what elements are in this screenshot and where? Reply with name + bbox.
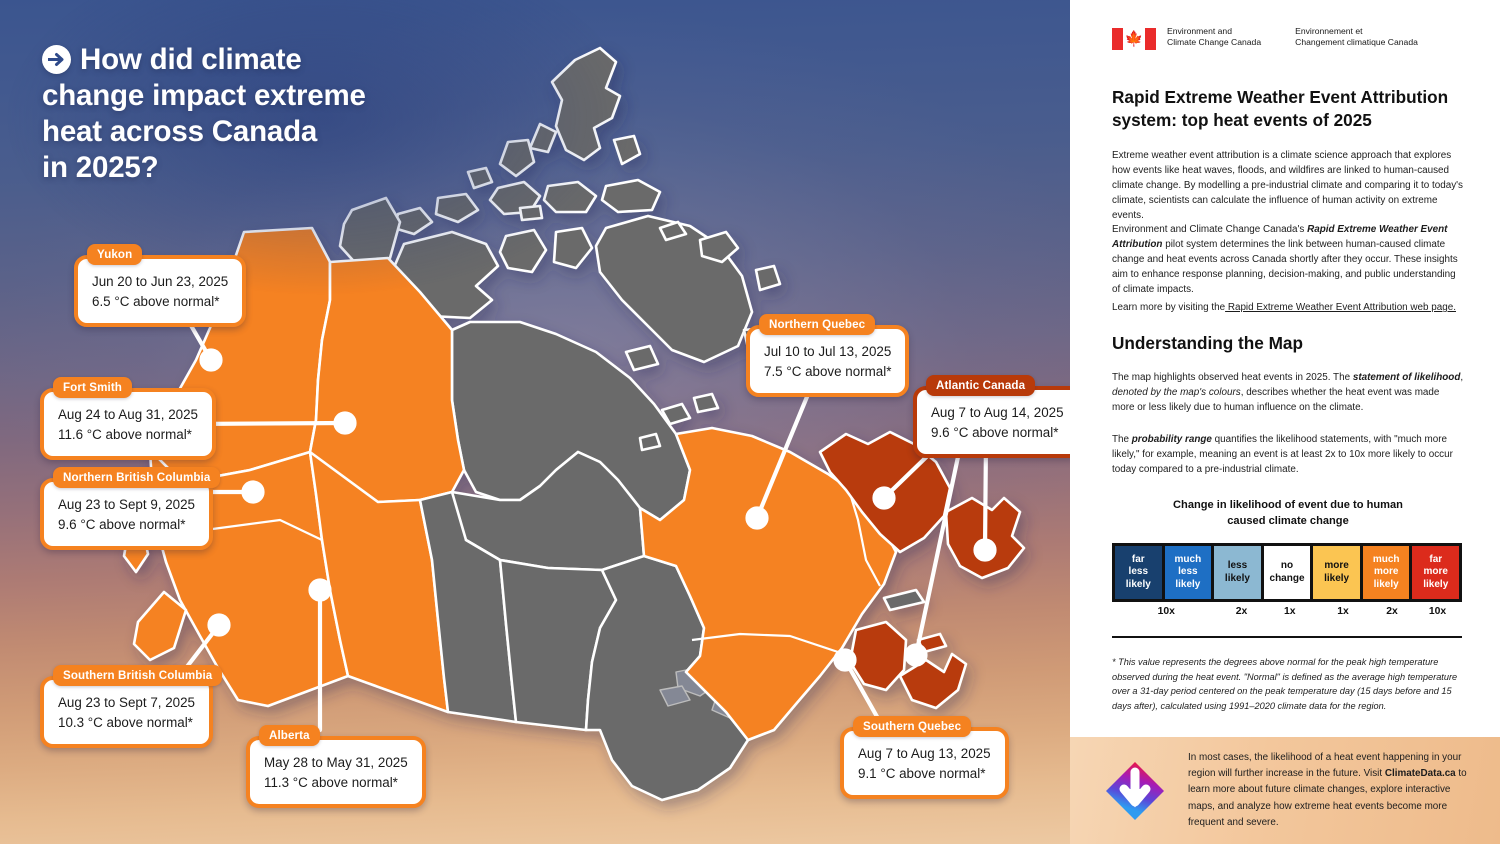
map-callout-southern-quebec[interactable]: Southern QuebecAug 7 to Aug 13, 20259.1 … — [840, 727, 1009, 799]
callout-temperature-anomaly: 9.6 °C above normal* — [931, 423, 1064, 443]
callout-date-range: Aug 23 to Sept 9, 2025 — [58, 495, 195, 515]
legend-swatch-label-line: less — [1129, 566, 1148, 578]
panel-heading-attribution: Rapid Extreme Weather Event Attribution … — [1112, 86, 1464, 131]
title-line-3: heat across Canada — [42, 115, 317, 148]
legend-swatch-label-line: far — [1132, 554, 1145, 566]
legend-swatch-far-less-likely: farlesslikely — [1115, 546, 1162, 599]
emphasis-statement-of-likelihood: statement of likelihood — [1353, 372, 1461, 383]
callout-temperature-anomaly: 7.5 °C above normal* — [764, 362, 891, 382]
panel-paragraph-5: The probability range quantifies the lik… — [1112, 432, 1464, 477]
rewea-web-page-link[interactable]: Rapid Extreme Weather Event Attribution … — [1225, 302, 1456, 313]
legend-swatch-label-line: likely — [1225, 573, 1250, 585]
legend-swatch-label-line: change — [1270, 573, 1305, 585]
legend-swatch-label-line: likely — [1175, 579, 1200, 591]
legend-tick-labels: 10x2x1x1x2x10x — [1112, 606, 1462, 622]
logo-text-english: Environment andClimate Change Canada — [1167, 26, 1261, 49]
info-panel: 🍁 Environment andClimate Change Canada E… — [1070, 0, 1500, 844]
legend-divider — [1112, 636, 1462, 638]
callout-date-range: Aug 24 to Aug 31, 2025 — [58, 405, 198, 425]
callout-date-range: Aug 7 to Aug 14, 2025 — [931, 403, 1064, 423]
legend-title: Change in likelihood of event due to hum… — [1112, 498, 1464, 529]
map-region-anticosti — [884, 590, 924, 610]
map-callout-fort-smith[interactable]: Fort SmithAug 24 to Aug 31, 202511.6 °C … — [40, 388, 216, 460]
legend-swatch-label-line: more — [1374, 566, 1398, 578]
map-region-newfoundland — [946, 498, 1024, 578]
map-callout-northern-quebec[interactable]: Northern QuebecJul 10 to Jul 13, 20257.5… — [746, 325, 909, 397]
map-region-nova-scotia — [900, 654, 966, 708]
map-region-vancouver-island — [134, 592, 186, 660]
legend-swatch-label-line: much — [1373, 554, 1400, 566]
legend-swatch-no-change: nochange — [1264, 546, 1311, 599]
panel-paragraph-1: Extreme weather event attribution is a c… — [1112, 148, 1464, 223]
title-line-2: change impact extreme — [42, 79, 366, 112]
callout-temperature-anomaly: 6.5 °C above normal* — [92, 292, 228, 312]
callout-temperature-anomaly: 9.1 °C above normal* — [858, 764, 991, 784]
callout-region-name: Alberta — [259, 725, 320, 746]
legend-swatch-label-line: likely — [1126, 579, 1151, 591]
callout-temperature-anomaly: 11.3 °C above normal* — [264, 773, 408, 793]
callout-region-name: Fort Smith — [53, 377, 132, 398]
promo-text: In most cases, the likelihood of a heat … — [1188, 750, 1478, 830]
arrow-right-circle-icon — [42, 45, 71, 74]
callout-region-name: Southern Quebec — [853, 716, 971, 737]
legend-swatch-less-likely: lesslikely — [1214, 546, 1261, 599]
emphasis-probability-range: probability range — [1132, 434, 1212, 445]
legend-swatch-label-line: much — [1175, 554, 1202, 566]
legend-swatch-far-more-likely: farmorelikely — [1412, 546, 1459, 599]
map-callout-yukon[interactable]: YukonJun 20 to Jun 23, 20256.5 °C above … — [74, 255, 246, 327]
callout-date-range: May 28 to May 31, 2025 — [264, 753, 408, 773]
legend-swatch-more-likely: morelikely — [1313, 546, 1360, 599]
callout-date-range: Jun 20 to Jun 23, 2025 — [92, 272, 228, 292]
map-callout-northern-british-columbia[interactable]: Northern British ColumbiaAug 23 to Sept … — [40, 478, 213, 550]
map-panel: How did climate change impact extreme he… — [0, 0, 1070, 844]
callout-date-range: Aug 7 to Aug 13, 2025 — [858, 744, 991, 764]
climatedata-brand: ClimateData.ca — [1385, 768, 1456, 779]
callout-temperature-anomaly: 11.6 °C above normal* — [58, 425, 198, 445]
legend-tick-2: 1x — [1284, 606, 1296, 617]
legend-swatch-label-line: far — [1429, 554, 1442, 566]
canada-flag-icon: 🍁 — [1112, 28, 1156, 50]
page-title: How did climate change impact extreme he… — [42, 40, 462, 186]
legend-tick-4: 2x — [1386, 606, 1398, 617]
legend-swatch-much-less-likely: muchlesslikely — [1165, 546, 1212, 599]
likelihood-legend: farlesslikelymuchlesslikelylesslikelynoc… — [1112, 543, 1462, 602]
callout-region-name: Northern British Columbia — [53, 467, 220, 488]
title-line-4: in 2025? — [42, 151, 158, 184]
callout-date-range: Aug 23 to Sept 7, 2025 — [58, 693, 195, 713]
legend-tick-3: 1x — [1337, 606, 1349, 617]
map-callout-southern-british-columbia[interactable]: Southern British ColumbiaAug 23 to Sept … — [40, 676, 213, 748]
legend-swatch-much-more-likely: muchmorelikely — [1363, 546, 1410, 599]
map-callout-alberta[interactable]: AlbertaMay 28 to May 31, 202511.3 °C abo… — [246, 736, 426, 808]
legend-tick-0: 10x — [1158, 606, 1175, 617]
legend-tick-1: 2x — [1236, 606, 1248, 617]
callout-temperature-anomaly: 9.6 °C above normal* — [58, 515, 195, 535]
callout-region-name: Atlantic Canada — [926, 375, 1035, 396]
map-callout-atlantic-canada[interactable]: Atlantic CanadaAug 7 to Aug 14, 20259.6 … — [913, 386, 1070, 458]
map-region-prince-edward-island — [918, 634, 946, 652]
callout-date-range: Jul 10 to Jul 13, 2025 — [764, 342, 891, 362]
legend-swatch-label-line: likely — [1423, 579, 1448, 591]
callout-temperature-anomaly: 10.3 °C above normal* — [58, 713, 195, 733]
title-line-1: How did climate — [80, 43, 302, 76]
government-of-canada-logo: 🍁 Environment andClimate Change Canada E… — [1112, 26, 1418, 50]
legend-swatch-label-line: no — [1281, 560, 1293, 572]
panel-paragraph-3: Learn more by visiting the Rapid Extreme… — [1112, 300, 1464, 315]
logo-text-french: Environnement etChangement climatique Ca… — [1295, 26, 1418, 49]
legend-swatch-label-line: likely — [1374, 579, 1399, 591]
map-region-new-brunswick — [850, 622, 906, 690]
callout-region-name: Yukon — [87, 244, 142, 265]
legend-swatch-label-line: more — [1324, 560, 1348, 572]
climatedata-diamond-icon — [1102, 758, 1168, 824]
legend-swatch-label-line: less — [1178, 566, 1197, 578]
legend-swatch-label-line: likely — [1324, 573, 1349, 585]
panel-paragraph-4: The map highlights observed heat events … — [1112, 370, 1464, 415]
callout-region-name: Northern Quebec — [759, 314, 875, 335]
emphasis-map-colours: denoted by the map's colours — [1112, 387, 1241, 398]
callout-region-name: Southern British Columbia — [53, 665, 222, 686]
panel-heading-understanding-map: Understanding the Map — [1112, 332, 1464, 355]
panel-paragraph-2: Environment and Climate Change Canada's … — [1112, 222, 1464, 297]
legend-swatch-label-line: more — [1424, 566, 1448, 578]
legend-swatch-label-line: less — [1228, 560, 1247, 572]
footnote-normal-definition: * This value represents the degrees abov… — [1112, 655, 1464, 714]
climatedata-promo-banner: In most cases, the likelihood of a heat … — [1070, 737, 1500, 844]
legend-tick-5: 10x — [1429, 606, 1446, 617]
